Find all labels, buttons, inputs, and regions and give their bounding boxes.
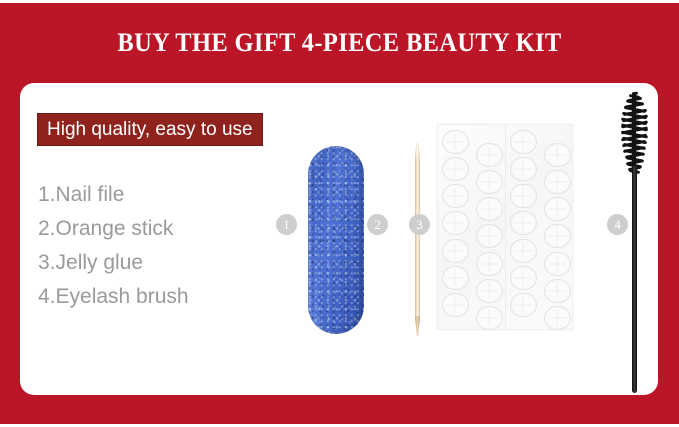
list-item: 2.Orange stick (38, 212, 189, 246)
list-item: 4.Eyelash brush (38, 280, 189, 314)
glue-tab (544, 279, 571, 303)
number-badge-1: 1 (276, 214, 297, 235)
eyelash-brush-handle (632, 166, 637, 393)
glue-tab (476, 197, 503, 221)
content-card: High quality, easy to use 1.Nail file 2.… (20, 83, 658, 395)
number-badge-3: 3 (409, 214, 430, 235)
orange-stick-body (415, 143, 420, 336)
glue-tab (442, 130, 469, 154)
glue-tab (544, 252, 571, 276)
glue-tab (510, 239, 537, 263)
list-item: 1.Nail file (38, 178, 189, 212)
jelly-glue-product-image (437, 124, 573, 330)
eyelash-brush-product-image (618, 88, 652, 393)
glue-tab (476, 279, 503, 303)
number-badge-4: 4 (607, 214, 628, 235)
nail-file-texture (308, 146, 364, 334)
glue-tab (476, 306, 503, 330)
glue-tab (476, 170, 503, 194)
orange-stick-bevel-tip (415, 316, 420, 336)
glue-tab (510, 266, 537, 290)
glue-tab (510, 157, 537, 181)
quality-banner: High quality, easy to use (38, 114, 262, 145)
glue-tab (544, 197, 571, 221)
page-title: BUY THE GIFT 4-PIECE BEAUTY KIT (20, 26, 658, 60)
number-badge-2: 2 (367, 214, 388, 235)
eyelash-brush-head (621, 90, 648, 172)
glue-tab (544, 170, 571, 194)
nail-file-product-image (308, 146, 364, 334)
glue-tab (442, 157, 469, 181)
glue-tab (442, 184, 469, 208)
glue-tab (544, 224, 571, 248)
glue-tab (476, 224, 503, 248)
glue-tab (476, 252, 503, 276)
glue-tab (442, 266, 469, 290)
glue-tab (510, 184, 537, 208)
glue-tab (510, 293, 537, 317)
glue-sheet-seam (505, 124, 506, 330)
glue-tab (544, 143, 571, 167)
glue-tab (442, 239, 469, 263)
glue-tab (510, 130, 537, 154)
glue-tab (442, 211, 469, 235)
product-poster: BUY THE GIFT 4-PIECE BEAUTY KIT High qua… (0, 0, 679, 427)
feature-list: 1.Nail file 2.Orange stick 3.Jelly glue … (38, 178, 189, 314)
glue-tab (510, 211, 537, 235)
glue-tab (442, 293, 469, 317)
list-item: 3.Jelly glue (38, 246, 189, 280)
orange-stick-product-image (414, 143, 421, 336)
glue-tab (476, 143, 503, 167)
glue-tab (544, 306, 571, 330)
